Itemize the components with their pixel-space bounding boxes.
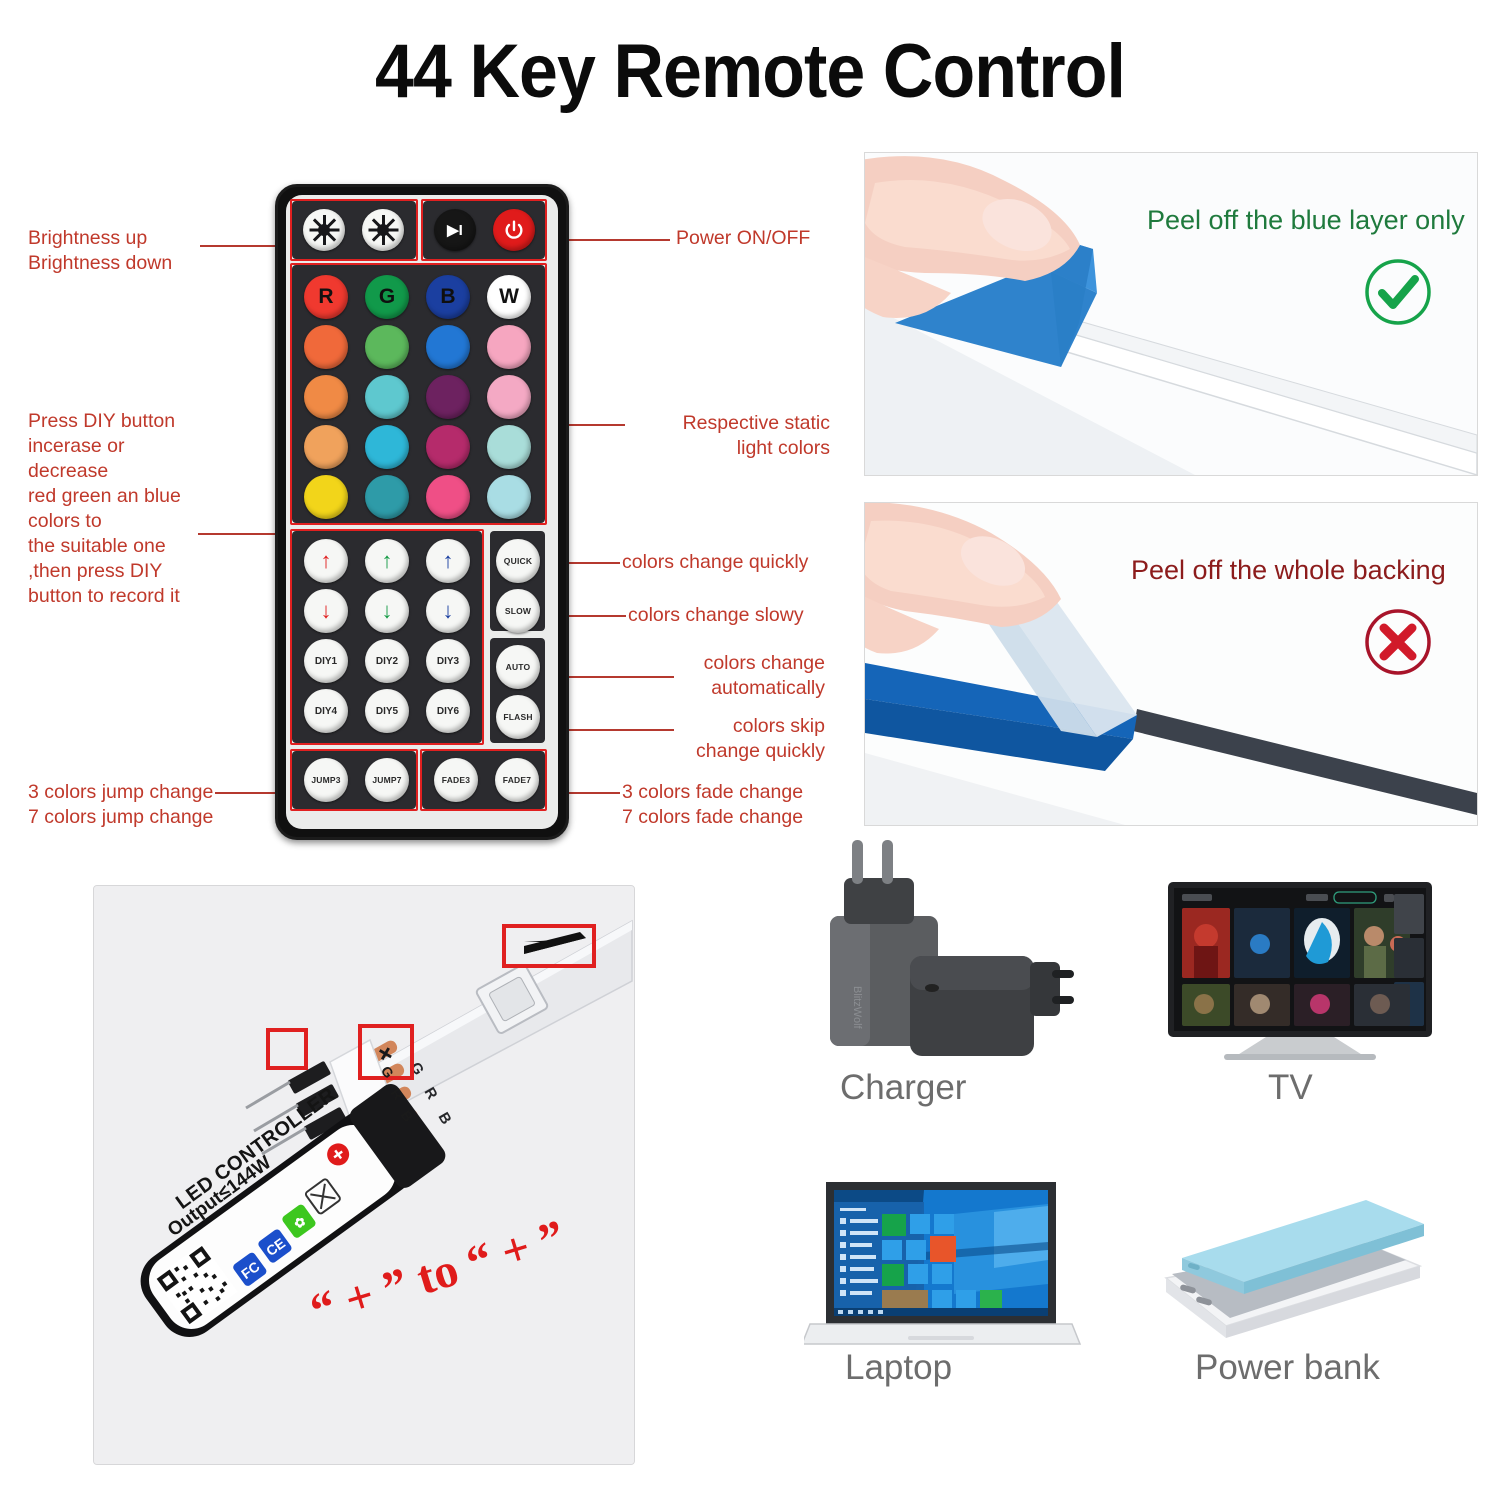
photo-peel-blue-layer: Peel off the blue layer only <box>864 152 1478 476</box>
blue-up-arrow: ↑ <box>443 550 454 572</box>
red-down-arrow: ↓ <box>321 600 332 622</box>
annotation-static-colors: Respective static light colors <box>625 411 830 461</box>
blue-down-arrow-button[interactable]: ↓ <box>426 589 470 633</box>
color-button-r3-c2[interactable] <box>365 375 409 419</box>
bottom-button-jump3[interactable]: JUMP3 <box>304 758 348 802</box>
device-label-tv: TV <box>1268 1068 1313 1108</box>
color-button-label: G <box>379 285 395 309</box>
diy-button-diy5[interactable]: DIY5 <box>365 689 409 733</box>
bottom-button-jump7[interactable]: JUMP7 <box>365 758 409 802</box>
device-label-power-bank: Power bank <box>1195 1348 1380 1388</box>
diy-button-diy3[interactable]: DIY3 <box>426 639 470 683</box>
photo-peel-whole-backing: Peel off the whole backing <box>864 502 1478 826</box>
play-pause-icon: ▶I <box>447 221 463 239</box>
color-button-r1-c4[interactable]: W <box>487 275 531 319</box>
diy-button-label: DIY3 <box>437 656 459 667</box>
brightness-up-button[interactable] <box>303 209 345 251</box>
green-up-arrow-button[interactable]: ↑ <box>365 539 409 583</box>
annotation-quick: colors change quickly <box>622 550 882 575</box>
color-button-r2-c2[interactable] <box>365 325 409 369</box>
color-button-r3-c3[interactable] <box>426 375 470 419</box>
diy-button-diy6[interactable]: DIY6 <box>426 689 470 733</box>
bottom-button-label: JUMP7 <box>372 775 401 785</box>
mode-button-label: AUTO <box>506 662 531 672</box>
brightness-down-icon <box>368 215 398 245</box>
strip-connection-card: G R B + <box>93 885 635 1465</box>
color-button-r2-c3[interactable] <box>426 325 470 369</box>
diy-button-label: DIY6 <box>437 706 459 717</box>
annotation-jump: 3 colors jump change 7 colors jump chang… <box>28 780 288 830</box>
annotation-diy: Press DIY button incerase or decrease re… <box>28 409 278 609</box>
diy-button-label: DIY4 <box>315 706 337 717</box>
green-up-arrow: ↑ <box>382 550 393 572</box>
color-button-r5-c1[interactable] <box>304 475 348 519</box>
color-button-r5-c3[interactable] <box>426 475 470 519</box>
color-button-label: R <box>318 285 333 309</box>
tv-icon <box>1148 874 1448 1064</box>
mode-button-flash[interactable]: FLASH <box>496 695 540 739</box>
blue-down-arrow: ↓ <box>443 600 454 622</box>
diy-button-diy1[interactable]: DIY1 <box>304 639 348 683</box>
power-bank-icon <box>1152 1182 1442 1354</box>
diy-button-diy2[interactable]: DIY2 <box>365 639 409 683</box>
cross-mark-icon <box>1363 607 1433 677</box>
mode-button-slow[interactable]: SLOW <box>496 589 540 633</box>
green-down-arrow: ↓ <box>382 600 393 622</box>
bottom-button-fade7[interactable]: FADE7 <box>495 758 539 802</box>
diy-button-label: DIY5 <box>376 706 398 717</box>
red-up-arrow-button[interactable]: ↑ <box>304 539 348 583</box>
color-button-r4-c1[interactable] <box>304 425 348 469</box>
color-button-r4-c2[interactable] <box>365 425 409 469</box>
brightness-up-icon <box>309 215 339 245</box>
color-button-r5-c4[interactable] <box>487 475 531 519</box>
bottom-button-fade3[interactable]: FADE3 <box>434 758 478 802</box>
color-button-r1-c3[interactable]: B <box>426 275 470 319</box>
mode-button-label: QUICK <box>504 556 532 566</box>
photo-caption-peel-whole: Peel off the whole backing <box>1131 555 1446 586</box>
diy-button-label: DIY1 <box>315 656 337 667</box>
diy-button-label: DIY2 <box>376 656 398 667</box>
remote-control: ▶I RGBW ↑↑↑↓↓↓ DIY1DIY2DIY3DIY4DIY5DIY6 … <box>275 184 569 840</box>
annotation-slow: colors change slowy <box>628 603 888 628</box>
bottom-button-label: JUMP3 <box>311 775 340 785</box>
color-button-r3-c1[interactable] <box>304 375 348 419</box>
blue-up-arrow-button[interactable]: ↑ <box>426 539 470 583</box>
color-button-r2-c4[interactable] <box>487 325 531 369</box>
device-laptop <box>804 1164 1084 1354</box>
device-label-laptop: Laptop <box>845 1348 952 1388</box>
highlight-controller-plus <box>266 1028 308 1070</box>
device-label-charger: Charger <box>840 1068 966 1108</box>
play-pause-button[interactable]: ▶I <box>434 209 476 251</box>
red-up-arrow: ↑ <box>321 550 332 572</box>
leader-line-slow <box>562 615 626 617</box>
annotation-flash: colors skip change quickly <box>620 714 825 764</box>
red-down-arrow-button[interactable]: ↓ <box>304 589 348 633</box>
device-tv <box>1148 874 1448 1064</box>
mode-button-auto[interactable]: AUTO <box>496 645 540 689</box>
green-down-arrow-button[interactable]: ↓ <box>365 589 409 633</box>
color-button-r4-c4[interactable] <box>487 425 531 469</box>
diy-button-diy4[interactable]: DIY4 <box>304 689 348 733</box>
check-mark-icon <box>1363 257 1433 327</box>
power-icon <box>503 219 525 241</box>
leader-line-quick <box>562 562 620 564</box>
color-button-r1-c1[interactable]: R <box>304 275 348 319</box>
device-power-bank <box>1152 1182 1442 1354</box>
annotation-fade: 3 colors fade change 7 colors fade chang… <box>622 780 887 830</box>
strip-connection-illustration: G R B + <box>94 886 634 1464</box>
color-button-r1-c2[interactable]: G <box>365 275 409 319</box>
bottom-button-label: FADE7 <box>503 775 531 785</box>
leader-line-flash <box>562 729 674 731</box>
color-button-label: W <box>499 285 519 309</box>
laptop-icon <box>804 1164 1084 1354</box>
brightness-down-button[interactable] <box>362 209 404 251</box>
remote-faceplate: ▶I RGBW ↑↑↑↓↓↓ DIY1DIY2DIY3DIY4DIY5DIY6 … <box>286 195 558 829</box>
color-button-r5-c2[interactable] <box>365 475 409 519</box>
charger-icon: BlitzWolf <box>806 836 1076 1066</box>
color-button-r2-c1[interactable] <box>304 325 348 369</box>
power-button[interactable] <box>493 209 535 251</box>
color-button-r4-c3[interactable] <box>426 425 470 469</box>
bottom-button-label: FADE3 <box>442 775 470 785</box>
device-charger: BlitzWolf <box>806 836 1076 1066</box>
color-button-r3-c4[interactable] <box>487 375 531 419</box>
mode-button-quick[interactable]: QUICK <box>496 539 540 583</box>
annotation-brightness: Brightness up Brightness down <box>28 226 278 276</box>
mode-button-label: SLOW <box>505 606 531 616</box>
mode-button-label: FLASH <box>503 712 532 722</box>
photo-caption-peel-blue: Peel off the blue layer only <box>1147 205 1465 236</box>
leader-line-fade <box>562 792 620 794</box>
color-button-label: B <box>440 285 455 309</box>
leader-line-auto <box>562 676 674 678</box>
svg-text:BlitzWolf: BlitzWolf <box>851 986 863 1030</box>
page-title: 44 Key Remote Control <box>60 28 1440 115</box>
